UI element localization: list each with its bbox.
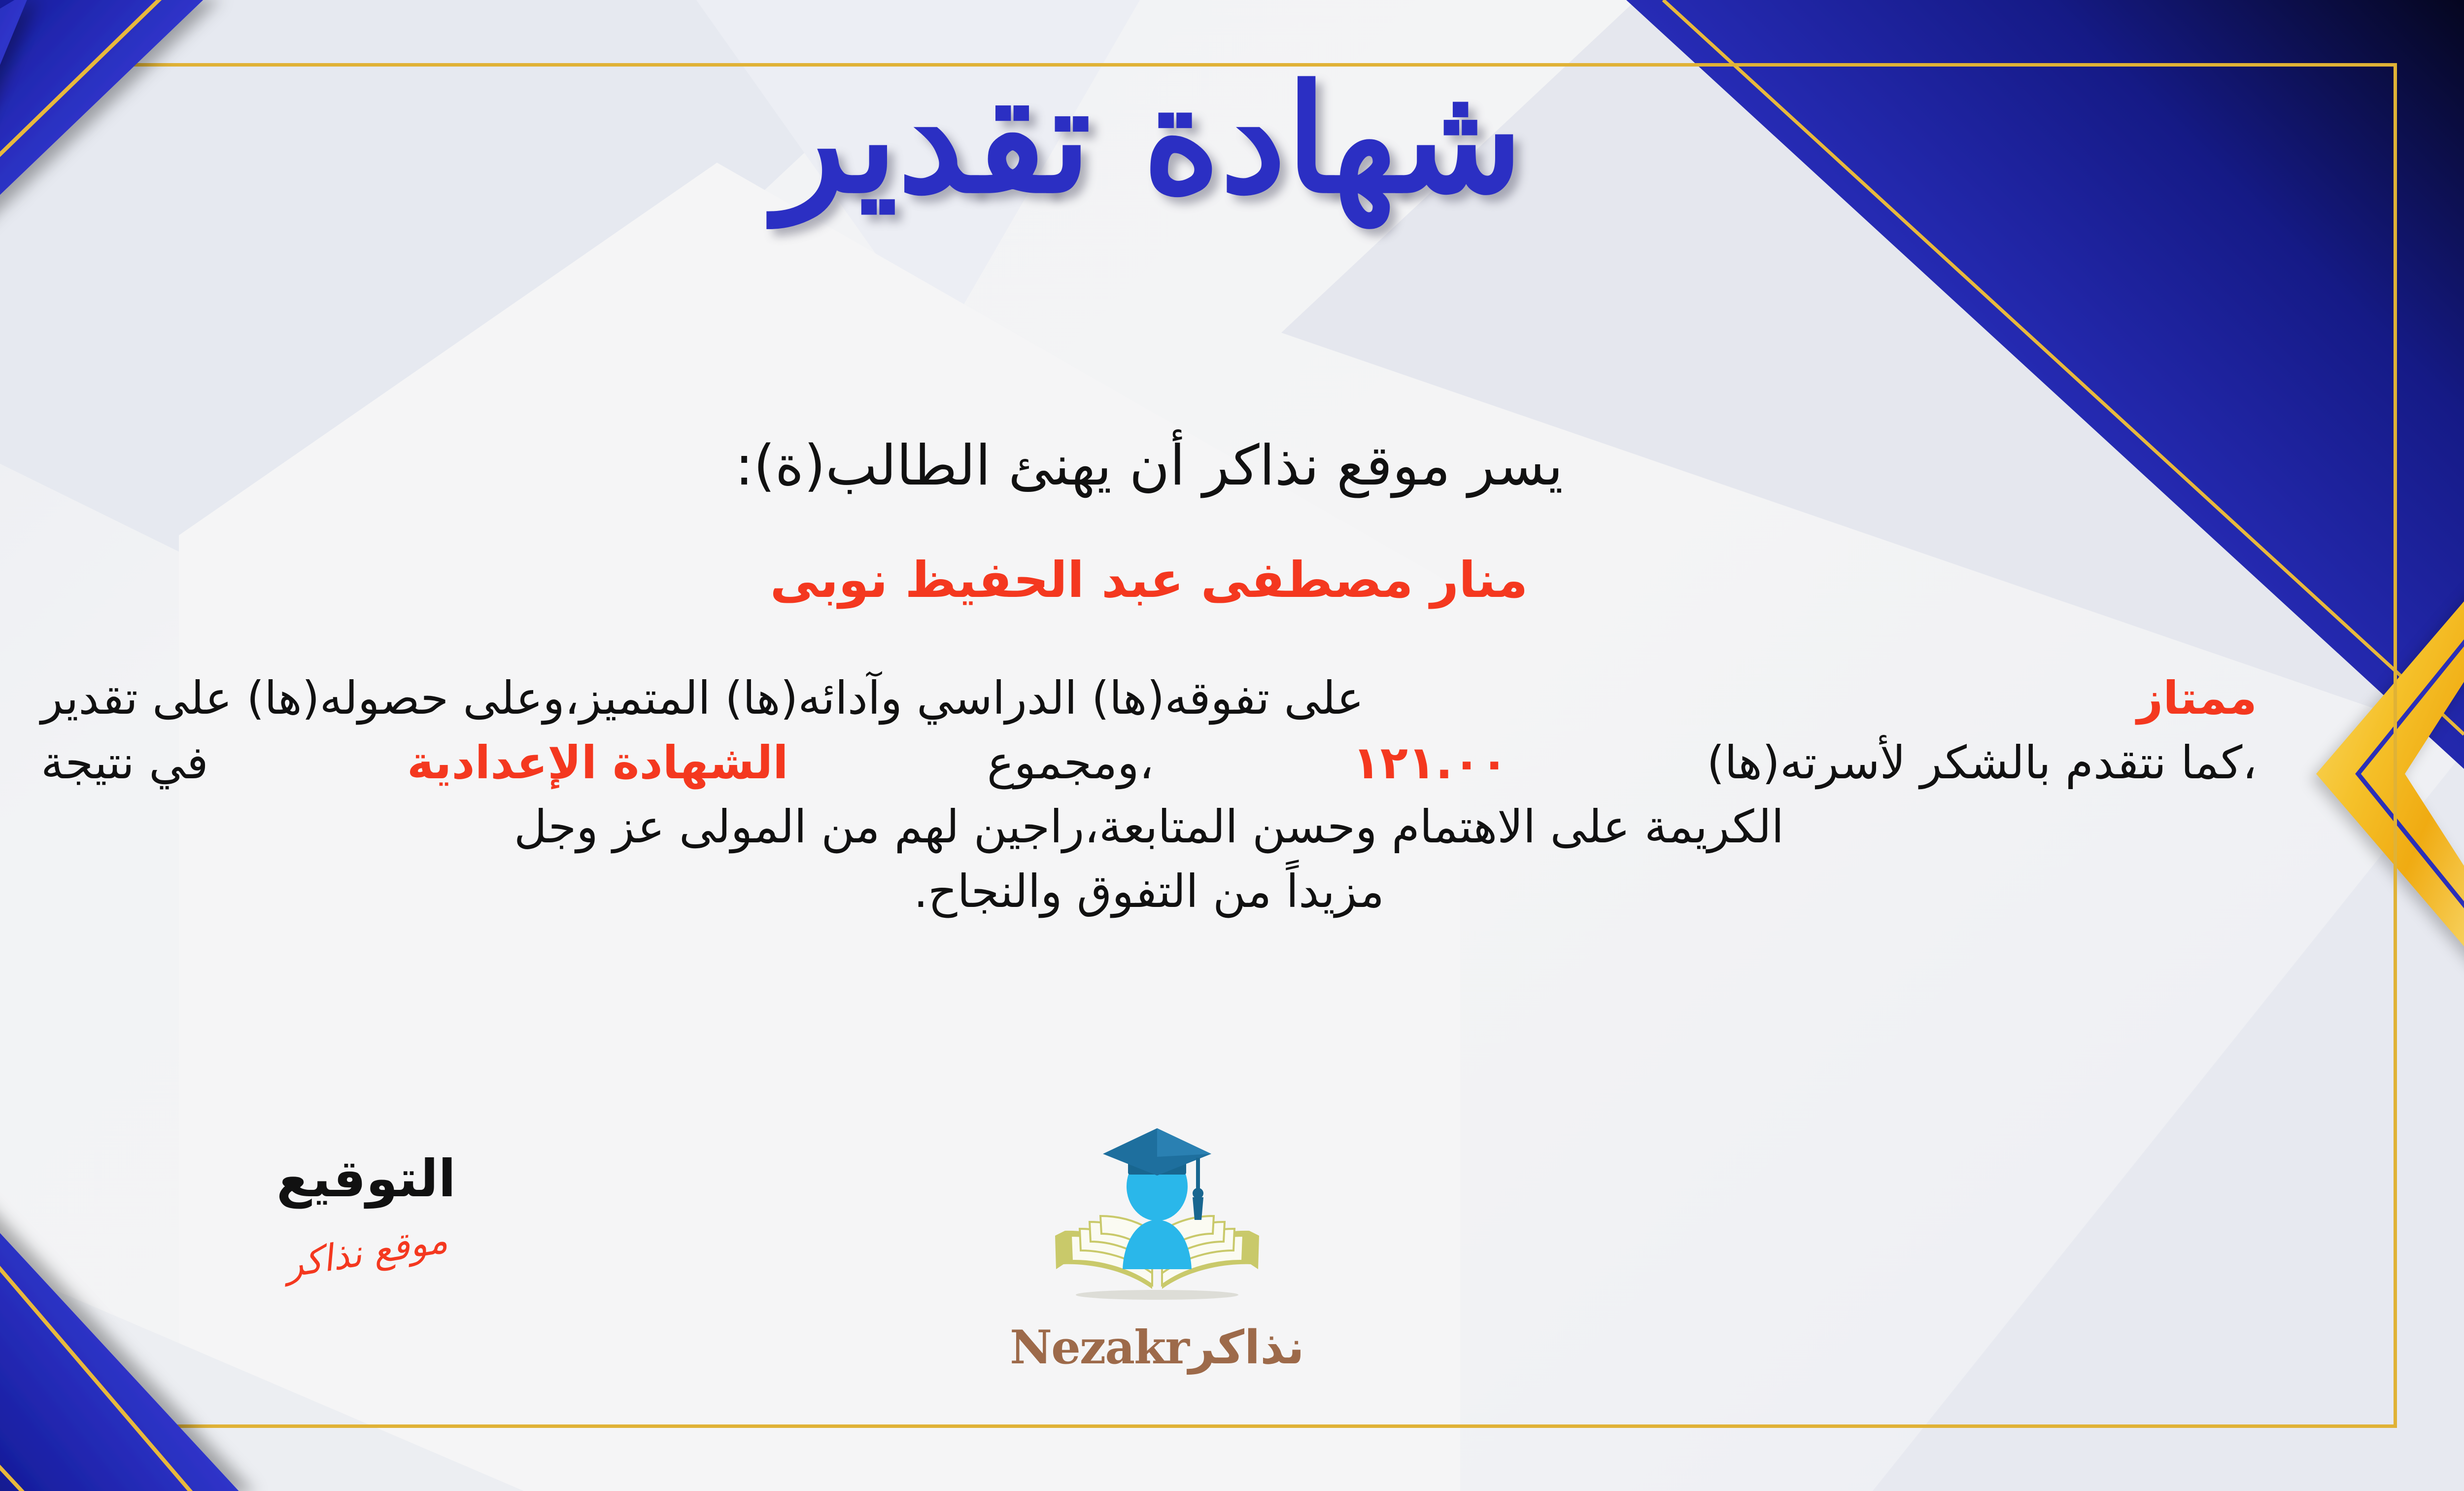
body-line-1: ممتاز على تفوقه(ها) الدراسي وآدائه(ها) ا… (41, 666, 2257, 731)
body-line-4: مزيداً من التفوق والنجاح. (41, 860, 2257, 924)
signature-block: التوقيع موقع نذاكر (208, 1148, 524, 1274)
logo-name-latin: Nezakr (1010, 1320, 1189, 1375)
certificate-body: ممتاز على تفوقه(ها) الدراسي وآدائه(ها) ا… (41, 666, 2257, 924)
grade-value: ممتاز (2137, 666, 2257, 731)
signature-label: التوقيع (208, 1148, 524, 1209)
brand-logo: نذاكرNezakr (994, 1121, 1320, 1375)
signature-script: موقع نذاكر (282, 1219, 450, 1286)
logo-name-arabic: نذاكر (1189, 1321, 1304, 1375)
certificate-name-value: الشهادة الإعدادية (407, 731, 788, 796)
graduate-book-icon (1041, 1121, 1273, 1318)
logo-wordmark: نذاكرNezakr (994, 1320, 1320, 1375)
certificate-page: شهادة تقدير يسر موقع نذاكر أن يهنئ الطال… (0, 0, 2464, 1491)
certificate-title: شهادة تقدير (0, 65, 2464, 213)
body-line-2: ،كما نتقدم بالشكر لأسرته(ها) ١٢١.٠٠ ،ومج… (41, 731, 2257, 796)
body-line-3: الكريمة على الاهتمام وحسن المتابعة،راجين… (41, 795, 2257, 860)
body-line-1-text: على تفوقه(ها) الدراسي وآدائه(ها) المتميز… (41, 666, 1364, 731)
body-line-2-head: في نتيجة (41, 731, 208, 796)
body-line-2-tail: ،كما نتقدم بالشكر لأسرته(ها) (1707, 731, 2258, 796)
salutation-text: يسر موقع نذاكر أن يهنئ الطالب(ة): (0, 434, 2464, 498)
body-line-2-mid: ،ومجموع (987, 731, 1154, 796)
total-score-value: ١٢١.٠٠ (1353, 731, 1508, 796)
student-name: منار مصطفى عبد الحفيظ نوبى (0, 551, 2464, 609)
